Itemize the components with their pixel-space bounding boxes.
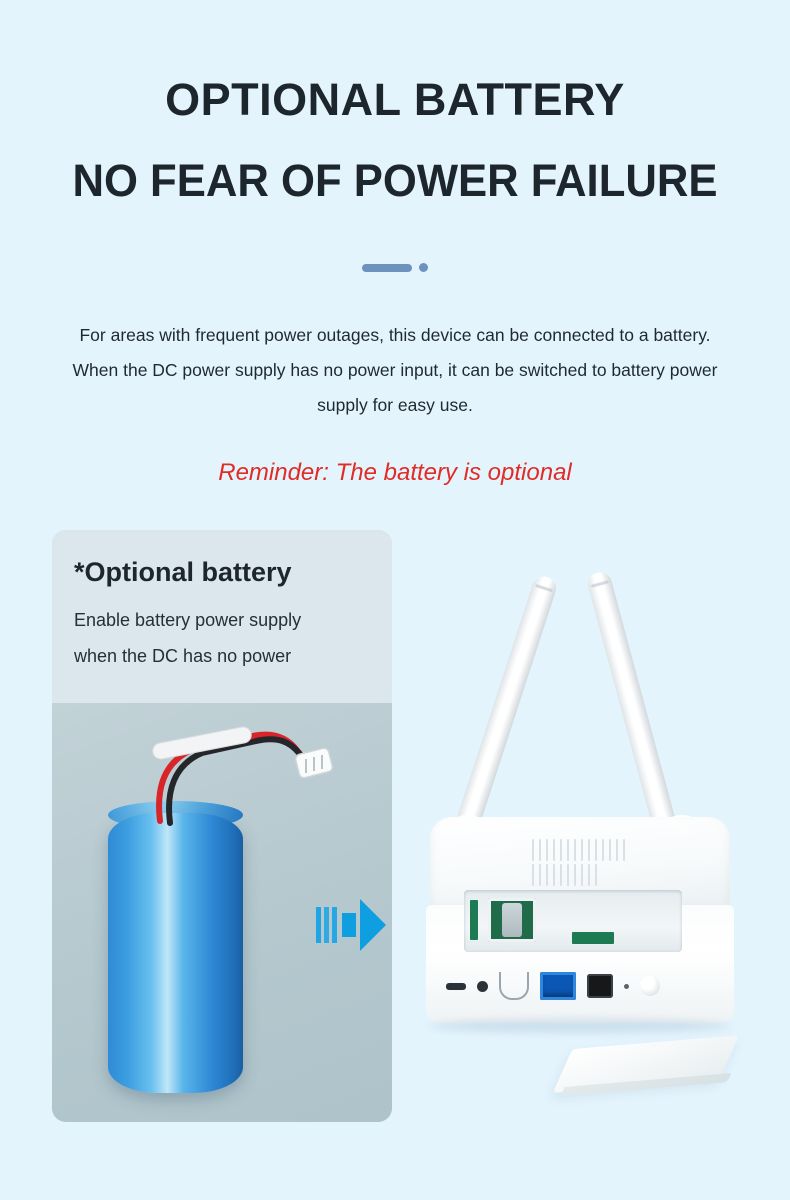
reminder-note: Reminder: The battery is optional [0, 459, 790, 487]
vent-slot [595, 864, 597, 886]
divider-dot [419, 263, 428, 272]
sim-socket [488, 898, 536, 942]
micro-usb-port-icon [446, 983, 466, 990]
vent-slot [539, 864, 541, 886]
ventilation-grille [532, 839, 628, 886]
arrow-speed-bar [316, 907, 321, 943]
rj45-ethernet-port-icon [540, 972, 576, 1000]
vent-slot [532, 839, 534, 861]
vent-slot [560, 864, 562, 886]
arrow-head [360, 899, 386, 951]
router-device [410, 545, 760, 1065]
card-subtitle-line-2: when the DC has no power [74, 638, 370, 674]
vent-slot [623, 839, 625, 861]
pcb-strip-secondary [572, 932, 614, 944]
antenna-tip [591, 580, 609, 588]
port-row [446, 969, 714, 1003]
headline-primary: OPTIONAL BATTERY [0, 74, 790, 126]
page-title-block: OPTIONAL BATTERY NO FEAR OF POWER FAILUR… [0, 74, 790, 207]
antenna-tip [535, 584, 553, 592]
vent-slot [588, 839, 590, 861]
vent-slot [595, 839, 597, 861]
arrow-speed-bar [324, 907, 329, 943]
vent-slot [546, 839, 548, 861]
led-indicator-icon [624, 984, 629, 989]
card-title: *Optional battery [74, 556, 370, 588]
dc-power-jack-icon [587, 974, 613, 998]
vent-slot [616, 839, 618, 861]
vent-slot [581, 864, 583, 886]
headline-secondary: NO FEAR OF POWER FAILURE [12, 155, 778, 207]
vent-slot [574, 839, 576, 861]
flow-arrow-icon [316, 899, 386, 951]
card-subtitle-line-1: Enable battery power supply [74, 602, 370, 638]
u-marking-icon [499, 972, 529, 1000]
optional-battery-card: *Optional battery Enable battery power s… [52, 530, 392, 1122]
divider-bar [362, 264, 412, 272]
vent-slot [581, 839, 583, 861]
arrow-stem [342, 913, 356, 937]
card-header: *Optional battery Enable battery power s… [52, 530, 392, 703]
vent-slot [539, 839, 541, 861]
vent-slot [560, 839, 562, 861]
vent-slot [567, 839, 569, 861]
battery-photo [52, 703, 392, 1122]
vent-slot [588, 864, 590, 886]
sim-card-bay [464, 890, 682, 952]
intro-paragraph: For areas with frequent power outages, t… [72, 318, 718, 423]
pcb-strip [470, 900, 478, 940]
vent-slot [567, 864, 569, 886]
arrow-speed-bar [332, 907, 337, 943]
vent-slot [574, 864, 576, 886]
vent-slot [553, 864, 555, 886]
antenna-left-icon [447, 573, 559, 856]
vent-slot [553, 839, 555, 861]
vent-slot [532, 864, 534, 886]
vent-slot [609, 839, 611, 861]
vent-slot [546, 864, 548, 886]
reset-button-icon [640, 976, 660, 996]
button-icon [477, 981, 488, 992]
antenna-right-icon [585, 570, 683, 856]
sim-clip [502, 903, 522, 937]
divider [0, 263, 790, 272]
router-drop-shadow [430, 1019, 730, 1033]
vent-slot [602, 839, 604, 861]
